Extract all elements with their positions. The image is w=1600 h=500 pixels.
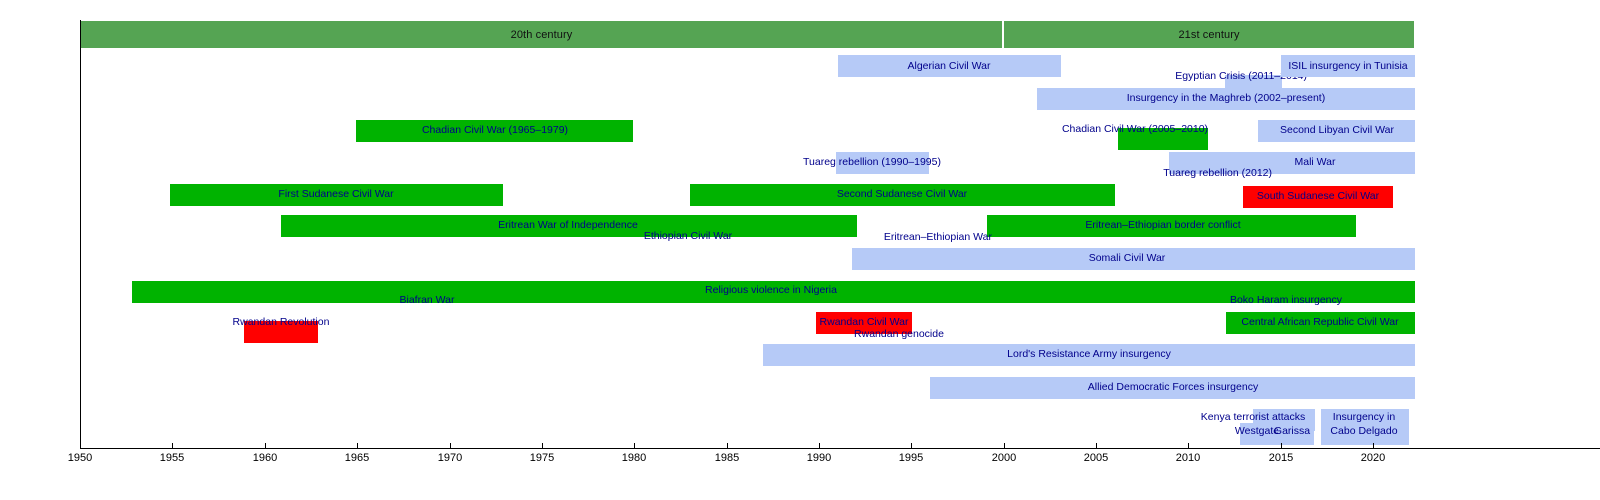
axis-tick: [542, 443, 543, 449]
axis-tick-label: 1995: [899, 452, 923, 464]
axis-tick-label: 1960: [253, 452, 277, 464]
bar-label-insurgency-cabo-delgado-1: Insurgency in: [1333, 411, 1395, 423]
bar-label-central-african-republic: Central African Republic Civil War: [1241, 316, 1398, 328]
axis-tick: [1373, 443, 1374, 449]
bar-label-garissa-attack: Garissa: [1274, 425, 1310, 437]
axis-tick-label: 1970: [438, 452, 462, 464]
axis-tick: [172, 443, 173, 449]
bar-label-ethiopian-civil-war: Ethiopian Civil War: [644, 230, 732, 242]
timeline-chart: 20th century21st century Algerian Civil …: [0, 0, 1600, 500]
bar-label-allied-democratic-forces: Allied Democratic Forces insurgency: [1088, 381, 1258, 393]
bar-label-rwandan-revolution: Rwandan Revolution: [233, 316, 330, 328]
bar-label-chadian-civil-war-2005: Chadian Civil War (2005–2010): [1062, 123, 1208, 135]
axis-tick: [450, 443, 451, 449]
bar-label-tuareg-rebellion-2012: Tuareg rebellion (2012): [1163, 167, 1272, 179]
bar-label-lords-resistance-army: Lord's Resistance Army insurgency: [1007, 348, 1171, 360]
bar-label-first-sudanese-civil-war: First Sudanese Civil War: [278, 188, 393, 200]
axis-tick-label: 2020: [1361, 452, 1385, 464]
bar-label-eritrean-ethiopian-border: Eritrean–Ethiopian border conflict: [1085, 219, 1240, 231]
bar-label-insurgency-maghreb: Insurgency in the Maghreb (2002–present): [1127, 92, 1325, 104]
bar-label-kenya-terrorist-attacks: Kenya terrorist attacks: [1201, 411, 1305, 423]
bar-label-westgate-attack: Westgate: [1235, 425, 1279, 437]
axis-tick-label: 2000: [992, 452, 1016, 464]
century-cell: 21st century: [1003, 20, 1415, 49]
axis-tick-label: 2005: [1084, 452, 1108, 464]
bar-label-second-libyan-civil-war: Second Libyan Civil War: [1280, 124, 1394, 136]
bar-label-second-sudanese-civil-war: Second Sudanese Civil War: [837, 188, 967, 200]
axis-tick: [1188, 443, 1189, 449]
axis-tick: [819, 443, 820, 449]
axis-tick: [727, 443, 728, 449]
axis-tick-label: 1950: [68, 452, 92, 464]
bar-label-isil-insurgency-tunisia: ISIL insurgency in Tunisia: [1288, 60, 1407, 72]
axis-tick-label: 2015: [1269, 452, 1293, 464]
bar-label-insurgency-cabo-delgado-2: Cabo Delgado: [1330, 425, 1397, 437]
bar-label-boko-haram-insurgency: Boko Haram insurgency: [1230, 294, 1342, 306]
bar-label-somali-civil-war: Somali Civil War: [1089, 252, 1166, 264]
axis-tick-label: 1990: [807, 452, 831, 464]
x-axis-line: [80, 448, 1600, 449]
axis-tick: [357, 443, 358, 449]
axis-tick: [1281, 443, 1282, 449]
axis-tick: [80, 443, 81, 449]
century-cell: 20th century: [80, 20, 1003, 49]
bar-label-rwandan-civil-war: Rwandan Civil War: [820, 316, 909, 328]
bar-label-rwandan-genocide: Rwandan genocide: [854, 328, 944, 340]
axis-tick: [265, 443, 266, 449]
axis-tick-label: 1980: [622, 452, 646, 464]
bar-label-eritrean-war-independence: Eritrean War of Independence: [498, 219, 638, 231]
y-axis-line: [80, 20, 81, 448]
bar-label-religious-violence-nigeria: Religious violence in Nigeria: [705, 284, 837, 296]
axis-tick-label: 1955: [160, 452, 184, 464]
bar-label-eritrean-ethiopian-war: Eritrean–Ethiopian War: [884, 231, 992, 243]
axis-tick-label: 1965: [345, 452, 369, 464]
bar-label-biafran-war: Biafran War: [399, 294, 454, 306]
axis-tick-label: 2010: [1176, 452, 1200, 464]
axis-tick: [1004, 443, 1005, 449]
axis-tick-label: 1985: [715, 452, 739, 464]
bar-label-mali-war: Mali War: [1294, 156, 1335, 168]
bar-label-tuareg-rebellion-1990: Tuareg rebellion (1990–1995): [803, 156, 941, 168]
bar-label-south-sudanese-civil-war: South Sudanese Civil War: [1257, 190, 1379, 202]
axis-tick-label: 1975: [530, 452, 554, 464]
bar-label-chadian-civil-war-1965: Chadian Civil War (1965–1979): [422, 124, 568, 136]
bar-label-algerian-civil-war: Algerian Civil War: [907, 60, 990, 72]
axis-tick: [634, 443, 635, 449]
axis-tick: [1096, 443, 1097, 449]
axis-tick: [911, 443, 912, 449]
